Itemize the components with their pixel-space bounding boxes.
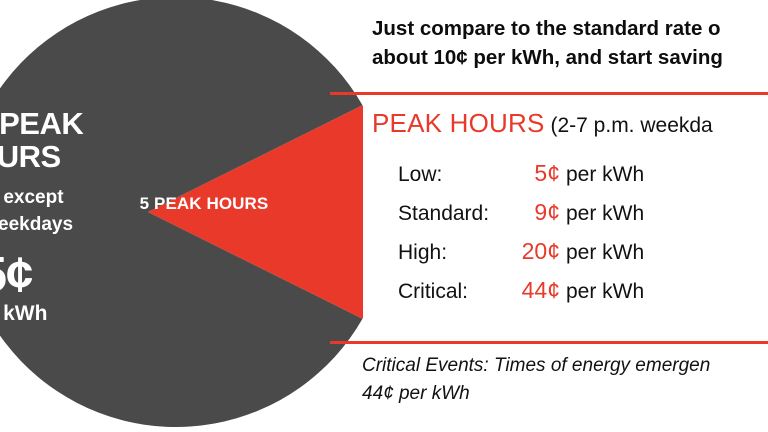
rate-value: 9¢ [516,199,560,226]
infographic-canvas: OFF-PEAK HOURS ytime except p.m. weekday… [0,0,768,432]
rate-pie-chart: OFF-PEAK HOURS ytime except p.m. weekday… [0,0,363,427]
critical-events-note: Critical Events: Times of energy emergen… [362,352,768,407]
peak-hours-heading: PEAK HOURS(2-7 p.m. weekda [372,110,713,136]
rate-unit: per kWh [566,163,644,186]
compare-note-line1: Just compare to the standard rate o [372,17,721,40]
rate-details-panel: Just compare to the standard rate o abou… [330,0,768,432]
rate-value: 44¢ [516,277,560,304]
peak-hours-heading-parenthetical: (2-7 p.m. weekda [551,114,713,137]
rate-label: Low: [398,163,516,187]
peak-hours-heading-label: PEAK HOURS [372,108,545,138]
table-row: Low:5¢per kWh [398,160,768,199]
table-row: Standard:9¢per kWh [398,199,768,238]
divider-rule-bottom [330,341,768,344]
divider-rule-top [330,92,768,95]
compare-note-line2: about 10¢ per kWh, and start saving [372,46,723,69]
critical-events-note-line2: 44¢ per kWh [362,383,470,404]
rate-label: Standard: [398,202,516,226]
rate-unit: per kWh [566,280,644,303]
rate-value: 5¢ [516,160,560,187]
critical-events-note-line1: Critical Events: Times of energy emergen [362,355,710,376]
rate-unit: per kWh [566,202,644,225]
peak-rate-table: Low:5¢per kWh Standard:9¢per kWh High:20… [398,160,768,316]
compare-note: Just compare to the standard rate o abou… [372,14,768,72]
rate-label: High: [398,241,516,265]
rate-unit: per kWh [566,241,644,264]
rate-value: 20¢ [516,238,560,265]
rate-label: Critical: [398,280,516,304]
table-row: Critical:44¢per kWh [398,277,768,316]
table-row: High:20¢per kWh [398,238,768,277]
